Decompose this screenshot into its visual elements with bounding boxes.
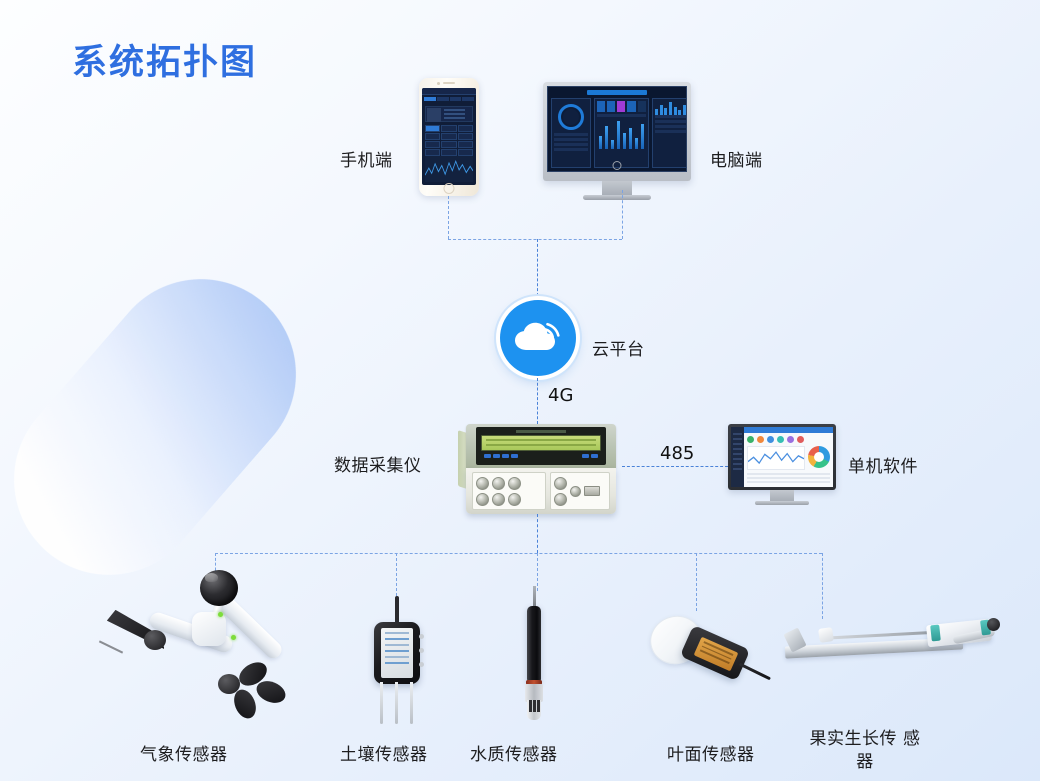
link-top-bus	[448, 239, 622, 240]
port-column-2	[492, 477, 505, 506]
port-column-1	[476, 477, 489, 506]
soil-indicator-1	[419, 634, 424, 639]
phone-status-bar	[422, 88, 476, 95]
link-collector-to-sensor-bus	[537, 514, 538, 553]
software-sidebar	[731, 427, 744, 487]
link-collector-to-software	[622, 466, 728, 467]
link-4g-label: 4G	[548, 385, 573, 406]
soil-prong-2	[395, 682, 398, 724]
software-stat-icons	[744, 433, 833, 446]
dashboard-body	[551, 98, 683, 168]
link-bus-to-leaf-sensor	[696, 553, 697, 611]
leaf-clip-sensor-icon[interactable]	[650, 612, 770, 712]
power-port	[570, 486, 581, 497]
phone-data-grid	[425, 125, 473, 156]
cloud-platform-icon[interactable]	[500, 300, 576, 376]
monitor-screen	[547, 86, 687, 172]
collector-front-panel	[476, 427, 606, 465]
data-collector-icon[interactable]	[466, 424, 616, 514]
monitor-bezel	[543, 82, 691, 181]
weather-station-icon[interactable]	[96, 572, 286, 722]
link-bus-to-cloud	[537, 239, 538, 301]
soil-indicator-3	[419, 662, 424, 667]
fruit-caliper-rod	[821, 631, 929, 640]
phone-chart	[425, 156, 473, 182]
weather-sensor-label: 气象传感器	[140, 740, 228, 765]
sensor-bus-line	[215, 553, 822, 554]
right-rows	[655, 115, 686, 133]
cloud-node-label: 云平台	[592, 335, 645, 360]
link-phone-to-bus	[448, 196, 449, 239]
collector-lcd-screen	[481, 435, 601, 451]
right-mini-bars	[655, 101, 686, 115]
collector-node-label: 数据采集仪	[334, 451, 422, 476]
topology-diagram-canvas: 系统拓扑图 手机端	[0, 0, 1040, 781]
collector-function-keys[interactable]	[582, 454, 598, 458]
water-sensor-label: 水质传感器	[470, 740, 558, 765]
dashboard-center-panel	[594, 98, 649, 168]
link-bus-to-soil-sensor	[396, 553, 397, 601]
soil-cable	[395, 596, 399, 624]
phone-home-button	[444, 183, 455, 194]
soil-sensor-label: 土壤传感器	[340, 740, 428, 765]
software-monitor-base	[755, 501, 809, 505]
phone-summary-card	[425, 106, 473, 122]
smartphone-icon[interactable]	[419, 78, 479, 196]
dashboard-gauge-panel	[551, 98, 591, 168]
soil-label-plate	[381, 628, 413, 678]
phone-card-thumbnail	[427, 108, 441, 122]
weather-wind-vane	[106, 624, 172, 652]
weather-led-a	[218, 612, 223, 617]
phone-screen	[422, 88, 476, 185]
collector-sensor-ports	[472, 472, 546, 510]
water-probe-body	[527, 606, 541, 684]
collector-connector-housing	[466, 468, 616, 514]
pc-node-label: 电脑端	[710, 146, 763, 171]
software-monitor-screen	[731, 427, 833, 487]
software-line-chart	[747, 446, 805, 470]
link-485-label: 485	[660, 443, 694, 464]
phone-tab-strip	[422, 95, 476, 103]
collector-comm-ports	[550, 472, 610, 510]
software-monitor-neck	[770, 490, 794, 501]
water-probe-tip	[527, 700, 541, 720]
mobile-node-label: 手机端	[340, 146, 393, 171]
fruit-sensor-end-cap	[987, 618, 1000, 631]
software-charts-row	[744, 446, 833, 470]
link-cloud-to-collector	[537, 378, 538, 424]
port-column-4	[554, 477, 567, 506]
link-pc-to-bus	[622, 190, 623, 239]
dashboard-title-bar	[587, 90, 648, 95]
weather-led-b	[231, 635, 236, 640]
collector-top-housing	[466, 424, 616, 468]
software-main-area	[744, 427, 833, 487]
phone-card-lines	[442, 107, 472, 121]
software-table	[744, 470, 833, 487]
weather-arm-right	[217, 595, 285, 661]
desktop-monitor-light-icon[interactable]	[728, 424, 836, 505]
weather-hub	[192, 612, 226, 646]
soil-prong-3	[410, 682, 413, 724]
phone-speaker	[443, 82, 455, 84]
monitor-stand-base	[583, 195, 651, 200]
gauge-ring	[558, 104, 584, 130]
phone-camera	[437, 82, 440, 85]
leaf-sensor-cable	[739, 663, 771, 681]
fruit-caliper-nut	[818, 627, 834, 643]
weather-radiation-dome	[200, 570, 238, 606]
soil-indicator-2	[419, 648, 424, 653]
page-title: 系统拓扑图	[72, 34, 257, 85]
status-chips	[597, 101, 646, 112]
link-bus-to-fruit-sensor	[822, 553, 823, 619]
fruit-sensor-accent-1	[930, 625, 941, 642]
monitor-stand-neck	[602, 181, 632, 195]
leaf-sensor-label: 叶面传感器	[667, 740, 755, 765]
soil-probe-icon[interactable]	[366, 596, 428, 726]
gauge-rows	[554, 133, 588, 151]
fruit-sensor-label: 果实生长传 感器	[805, 728, 925, 774]
collector-arrow-keys[interactable]	[484, 454, 518, 458]
standalone-software-label: 单机软件	[848, 452, 918, 477]
monitor-logo	[613, 161, 622, 170]
serial-db9-port	[584, 486, 600, 496]
decorative-capsule-shape	[0, 240, 335, 614]
collector-button-area[interactable]	[481, 454, 601, 458]
dashboard-bar-chart	[597, 119, 646, 149]
collector-brand-strip	[516, 430, 566, 433]
dashboard-right-panel	[652, 98, 687, 168]
fruit-growth-caliper-icon[interactable]	[785, 620, 1000, 690]
desktop-monitor-icon[interactable]	[543, 82, 691, 200]
water-quality-probe-icon[interactable]	[516, 586, 556, 726]
soil-prong-1	[380, 682, 383, 724]
center-rows	[597, 114, 646, 117]
software-monitor-bezel	[728, 424, 836, 490]
port-column-3	[508, 477, 521, 506]
cloud-glyph	[512, 316, 564, 360]
weather-anemometer	[216, 664, 300, 718]
software-donut-chart	[808, 446, 830, 468]
